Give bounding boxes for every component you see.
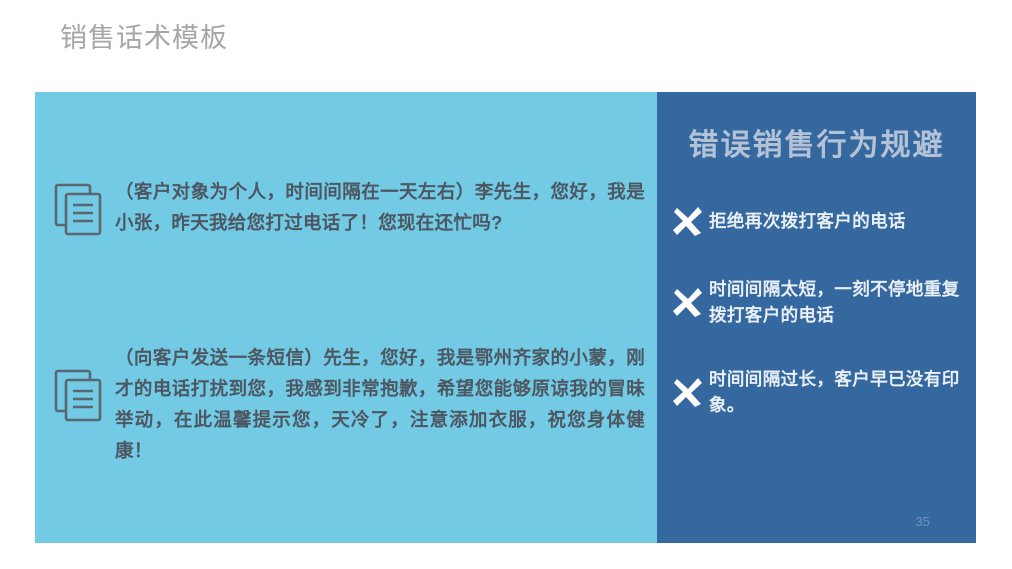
content-panels: （客户对象为个人，时间间隔在一天左右）李先生，您好，我是小张，昨天我给您打过电话… [35,92,976,543]
script-text: （向客户发送一条短信）先生，您好，我是鄂州齐家的小蒙，刚才的电话打扰到您，我感到… [115,342,645,466]
script-item: （向客户发送一条短信）先生，您好，我是鄂州齐家的小蒙，刚才的电话打扰到您，我感到… [53,342,645,466]
list-item: 时间间隔太短，一刻不停地重复拨打客户的电话 [671,276,964,328]
documents-icon [53,182,107,236]
list-item: 拒绝再次拨打客户的电话 [671,204,964,238]
sales-script-panel: （客户对象为个人，时间间隔在一天左右）李先生，您好，我是小张，昨天我给您打过电话… [35,92,657,543]
x-mark-icon [671,375,705,409]
avoid-behaviors-panel: 错误销售行为规避 拒绝再次拨打客户的电话 时间间隔太短，一刻不停地重复拨打客户的… [657,92,976,543]
avoid-item-text: 时间间隔太短，一刻不停地重复拨打客户的电话 [709,276,964,328]
script-text: （客户对象为个人，时间间隔在一天左右）李先生，您好，我是小张，昨天我给您打过电话… [115,176,645,238]
x-mark-icon [671,285,705,319]
script-item: （客户对象为个人，时间间隔在一天左右）李先生，您好，我是小张，昨天我给您打过电话… [53,176,645,238]
avoid-item-text: 时间间隔过长，客户早已没有印象。 [709,366,964,418]
list-item: 时间间隔过长，客户早已没有印象。 [671,366,964,418]
panel-heading: 错误销售行为规避 [657,120,976,164]
documents-icon [53,368,107,422]
page-title: 销售话术模板 [60,16,228,55]
avoid-item-text: 拒绝再次拨打客户的电话 [709,208,906,234]
page-number: 35 [916,514,930,529]
x-mark-icon [671,204,705,238]
avoid-list: 拒绝再次拨打客户的电话 时间间隔太短，一刻不停地重复拨打客户的电话 时间间隔过长… [671,204,964,418]
